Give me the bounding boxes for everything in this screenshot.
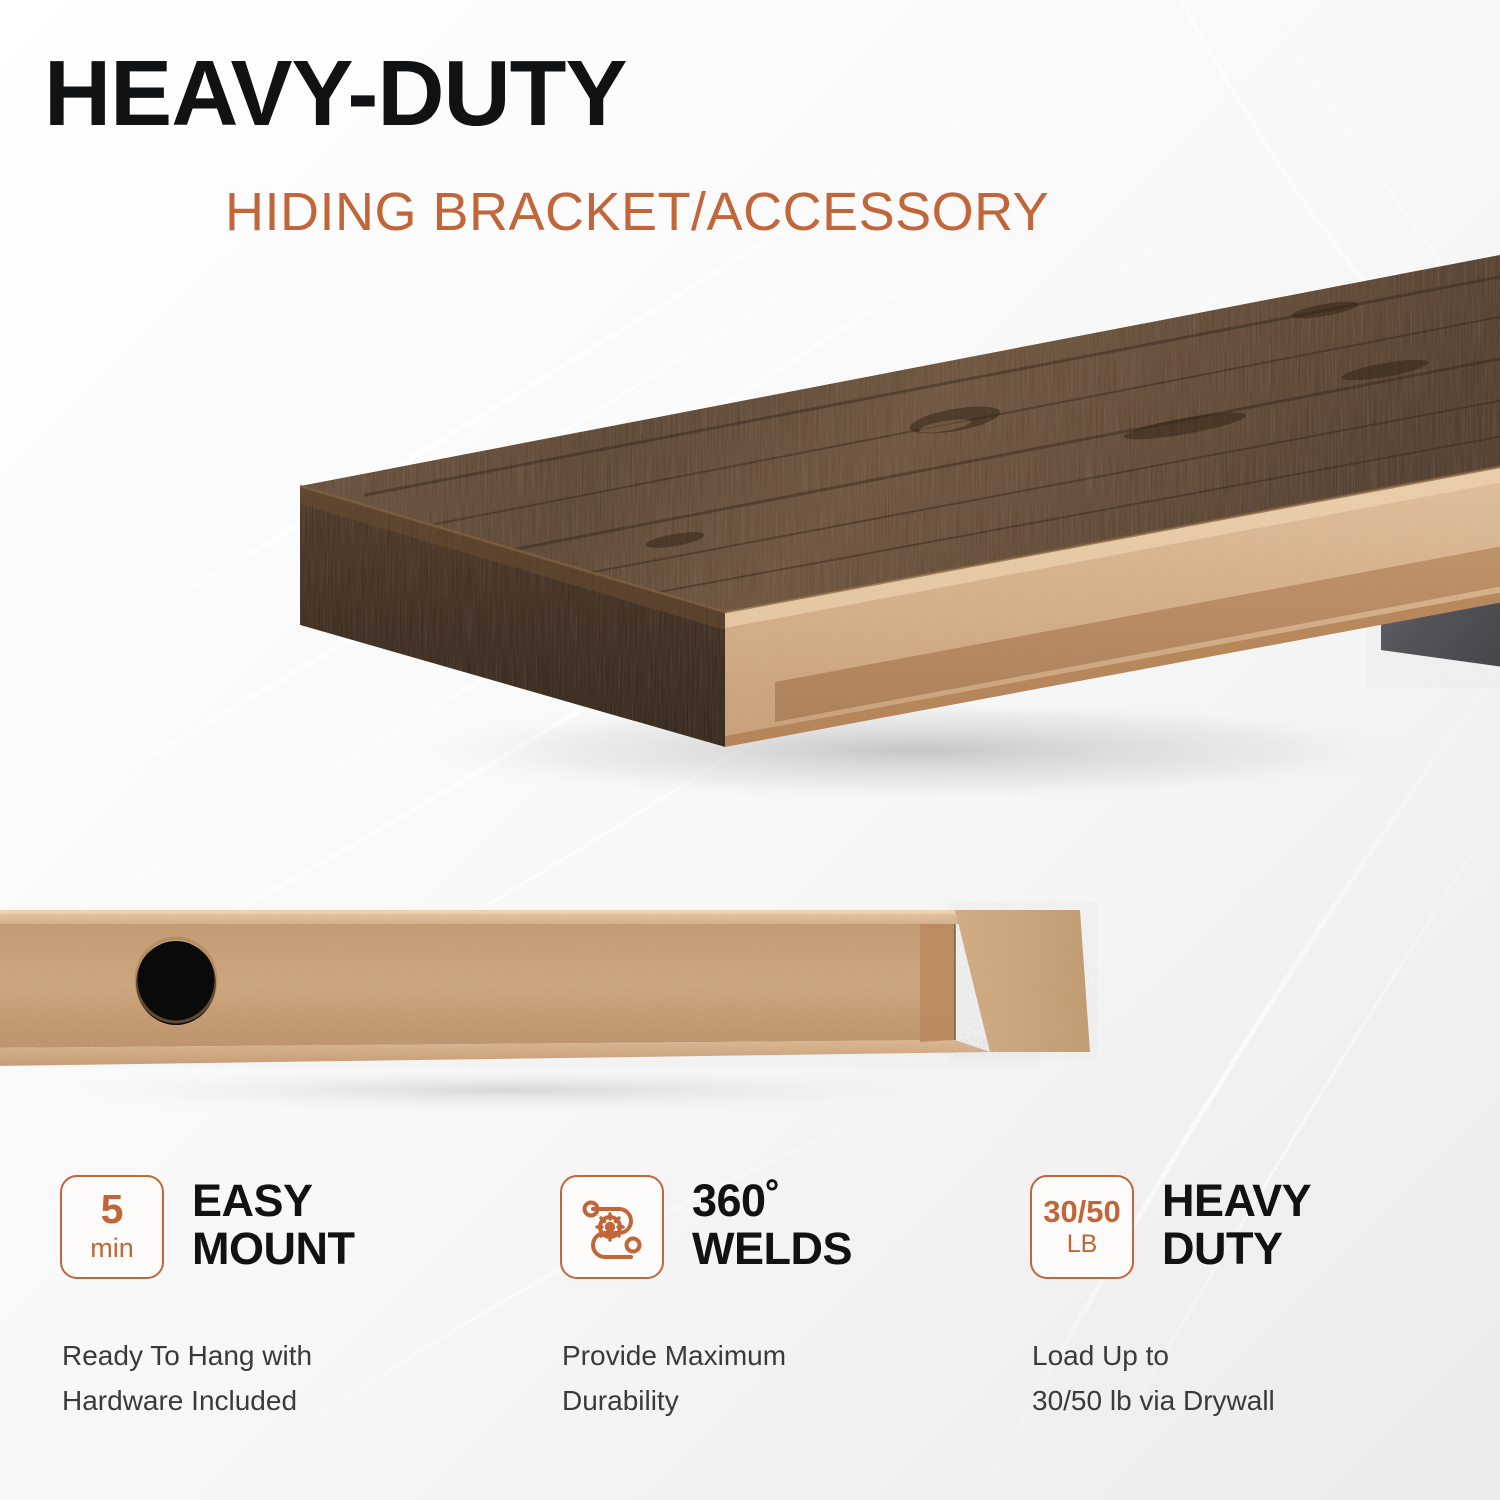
feature-desc-line2: Hardware Included: [62, 1378, 530, 1423]
feature-desc-line1: Load Up to: [1032, 1333, 1500, 1378]
feature-title-line1: EASY: [192, 1177, 354, 1225]
feature-desc-line2: Durability: [562, 1378, 1030, 1423]
five-minute-badge-icon: 5 min: [60, 1175, 164, 1279]
product-infographic: HEAVY-DUTY HIDING BRACKET/ACCESSORY: [0, 0, 1500, 1500]
cross-section-image: [0, 890, 1120, 1120]
feature-title-line2: MOUNT: [192, 1225, 354, 1273]
feature-desc-line2: 30/50 lb via Drywall: [1032, 1378, 1500, 1423]
page-subtitle: HIDING BRACKET/ACCESSORY: [225, 185, 1049, 239]
badge-unit: min: [90, 1233, 134, 1264]
feature-title: 360˚ WELDS: [692, 1175, 852, 1273]
page-title: HEAVY-DUTY: [44, 48, 627, 138]
feature-title: EASY MOUNT: [192, 1175, 354, 1273]
feature-heavy-duty: 30/50 LB HEAVY DUTY Load Up to 30/50 lb …: [1030, 1175, 1500, 1424]
feature-title-line1: HEAVY: [1162, 1177, 1311, 1225]
weld-path-icon-glyph: [579, 1194, 645, 1260]
weld-path-gear-icon: [560, 1175, 664, 1279]
feature-title: HEAVY DUTY: [1162, 1175, 1311, 1273]
load-capacity-badge-icon: 30/50 LB: [1030, 1175, 1134, 1279]
badge-unit: LB: [1067, 1230, 1098, 1259]
feature-list: 5 min EASY MOUNT Ready To Hang with Hard…: [0, 1175, 1500, 1465]
feature-desc-line1: Ready To Hang with: [62, 1333, 530, 1378]
main-product-image: [255, 250, 1500, 850]
feature-easy-mount: 5 min EASY MOUNT Ready To Hang with Hard…: [60, 1175, 530, 1424]
feature-description: Ready To Hang with Hardware Included: [62, 1333, 530, 1424]
feature-description: Load Up to 30/50 lb via Drywall: [1032, 1333, 1500, 1424]
feature-title-line2: DUTY: [1162, 1225, 1311, 1273]
feature-title-line2: WELDS: [692, 1225, 852, 1273]
feature-360-welds: 360˚ WELDS Provide Maximum Durability: [560, 1175, 1030, 1424]
feature-title-line1: 360˚: [692, 1177, 852, 1225]
badge-value: 5: [101, 1189, 124, 1230]
cross-section-mounting-hole: [136, 941, 216, 1025]
feature-description: Provide Maximum Durability: [562, 1333, 1030, 1424]
badge-value: 30/50: [1043, 1196, 1121, 1227]
feature-desc-line1: Provide Maximum: [562, 1333, 1030, 1378]
